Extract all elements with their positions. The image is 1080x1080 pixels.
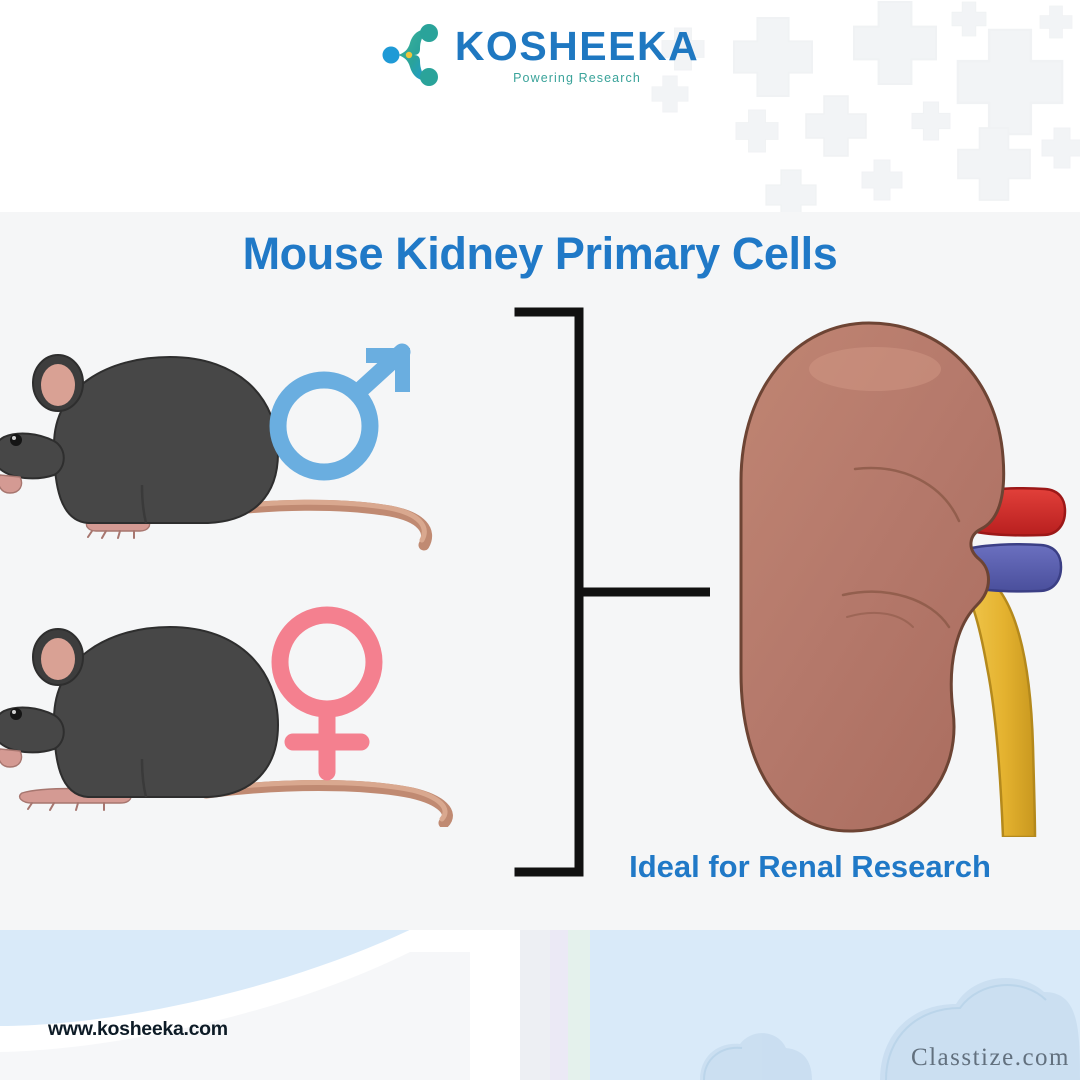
brand-logo[interactable]: KOSHEEKA Powering Research — [0, 0, 1080, 212]
bracket-connector-icon — [495, 307, 710, 877]
watermark-label: Classtize.com — [911, 1044, 1070, 1072]
male-gender-icon — [262, 338, 427, 483]
main-panel: Mouse Kidney Primary Cells — [0, 212, 1080, 930]
brand-name: KOSHEEKA — [455, 26, 699, 67]
molecule-network-icon — [381, 22, 445, 88]
website-url[interactable]: www.kosheeka.com — [48, 1018, 228, 1041]
kidney-icon — [735, 317, 1080, 837]
header-band: KOSHEEKA Powering Research — [0, 0, 1080, 212]
poster-canvas: KOSHEEKA Powering Research Mouse Kidney … — [0, 0, 1080, 1080]
page-title: Mouse Kidney Primary Cells — [0, 228, 1080, 280]
brand-tagline: Powering Research — [513, 72, 641, 85]
female-gender-icon — [255, 604, 410, 782]
subtitle-caption: Ideal for Renal Research — [560, 849, 1060, 885]
